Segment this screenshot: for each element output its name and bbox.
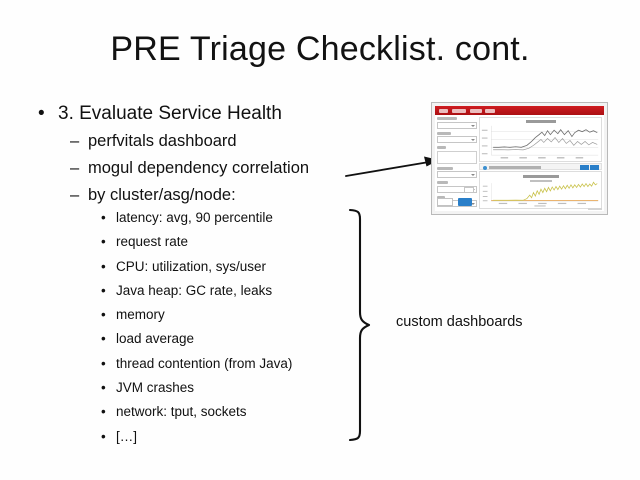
list-item: • latency: avg, 90 percentile [0, 206, 400, 230]
list-item: • network: tput, sockets [0, 400, 400, 424]
submit-button[interactable] [458, 198, 472, 206]
filter-stepper[interactable] [464, 187, 474, 193]
status-dot-icon [483, 166, 487, 170]
list-item: • memory [0, 303, 400, 327]
filter-label-asg [437, 146, 446, 149]
outline-level2-label: perfvitals dashboard [88, 132, 237, 150]
dashboard-viewport [435, 106, 604, 211]
bullet-dash-icon: – [70, 182, 79, 209]
nav-item-admin[interactable] [485, 109, 495, 113]
toolbar-title-label [489, 166, 541, 169]
outline-level3-label: CPU: utilization, sys/user [116, 259, 266, 274]
outline-level3-label: Java heap: GC rate, leaks [116, 283, 272, 298]
list-item: • thread contention (from Java) [0, 352, 400, 376]
toolbar-button-right[interactable] [590, 165, 599, 170]
filter-select-region[interactable] [437, 122, 477, 129]
reset-button[interactable] [437, 198, 453, 206]
filter-button-row [437, 198, 477, 206]
slide-canvas: PRE Triage Checklist. cont. • 3. Evaluat… [0, 0, 640, 480]
filter-label-range [437, 181, 448, 184]
list-item: • JVM crashes [0, 376, 400, 400]
bullet-dot-icon: • [101, 230, 106, 254]
outline-level3-list: • latency: avg, 90 percentile • request … [0, 206, 400, 449]
outline-level3-label: thread contention (from Java) [116, 356, 292, 371]
bullet-dot-icon: • [101, 327, 106, 351]
dashboard-header-bar [435, 106, 604, 115]
outline-level2-label: mogul dependency correlation [88, 159, 309, 177]
list-item: • Java heap: GC rate, leaks [0, 279, 400, 303]
pointer-arrow-icon [340, 150, 444, 186]
nav-item-metrics[interactable] [452, 109, 466, 113]
outline-level3-label: […] [116, 429, 137, 444]
line-chart-top [480, 118, 601, 161]
filter-label-cluster [437, 132, 451, 135]
outline-item-level1: • 3. Evaluate Service Health [0, 100, 400, 128]
list-item: • […] [0, 425, 400, 449]
dashboard-screenshot-thumbnail[interactable] [431, 102, 608, 215]
outline-level2-label: by cluster/asg/node: [88, 186, 236, 204]
nav-item-alerts[interactable] [470, 109, 482, 113]
line-chart-bottom [480, 172, 601, 208]
filter-listbox-asg[interactable] [437, 151, 477, 164]
chart-panel-error-rate [479, 171, 602, 209]
dashboard-footer-mark [588, 208, 602, 210]
brace-caption-label: custom dashboards [396, 312, 523, 332]
list-item: • CPU: utilization, sys/user [0, 255, 400, 279]
nav-item-home[interactable] [439, 109, 448, 113]
outline-level1-label: 3. Evaluate Service Health [58, 103, 282, 124]
curly-brace-icon [348, 208, 378, 442]
bullet-dot-icon: • [101, 255, 106, 279]
page-title: PRE Triage Checklist. cont. [0, 30, 640, 69]
outline-level3-label: network: tput, sockets [116, 404, 247, 419]
bullet-dot-icon: • [38, 100, 45, 128]
outline-level3-label: load average [116, 331, 194, 346]
outline-level3-label: JVM crashes [116, 380, 194, 395]
bullet-dot-icon: • [101, 400, 106, 424]
bullet-dot-icon: • [101, 376, 106, 400]
filter-label-region [437, 117, 457, 120]
filter-label-metric [437, 167, 453, 170]
outline-level3-label: memory [116, 307, 165, 322]
bullet-dot-icon: • [101, 206, 106, 230]
outline-level3-label: request rate [116, 234, 188, 249]
chart-panel-perfvitals [479, 117, 602, 162]
bullet-dot-icon: • [101, 303, 106, 327]
toolbar-button-left[interactable] [580, 165, 589, 170]
bullet-dot-icon: • [101, 352, 106, 376]
list-item: • request rate [0, 230, 400, 254]
bullet-dash-icon: – [70, 155, 79, 182]
bullet-dot-icon: • [101, 425, 106, 449]
bullet-dot-icon: • [101, 279, 106, 303]
list-item: • load average [0, 327, 400, 351]
outline-item-by-cluster-asg-node: – by cluster/asg/node: [0, 182, 400, 209]
filter-select-cluster[interactable] [437, 136, 477, 143]
filter-select-metric[interactable] [437, 171, 477, 178]
bullet-dash-icon: – [70, 128, 79, 155]
outline-level3-label: latency: avg, 90 percentile [116, 210, 273, 225]
chart-toolbar [479, 163, 602, 170]
dashboard-filter-sidebar [437, 117, 477, 209]
